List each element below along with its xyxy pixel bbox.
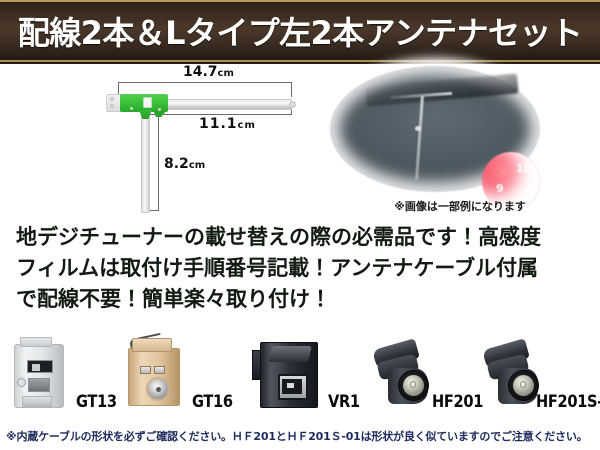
description-line-2: フィルムは取付け手順番号記載！アンテナケーブル付属	[16, 253, 588, 284]
photo-antenna-vertical	[415, 96, 424, 180]
connector-vr1: VR1	[252, 332, 360, 418]
gt13-window-lower	[28, 378, 50, 392]
connector-gt13-label: GT13	[76, 392, 117, 412]
antenna-film-end-cap	[289, 101, 296, 108]
connector-row: GT13 GT16 VR1	[0, 332, 600, 418]
connector-gt16-label: GT16	[192, 392, 233, 412]
gt13-side-circle	[17, 378, 26, 387]
product-image-page: 配線2本＆Lタイプ左2本アンテナセット 14.7cm 11.1cm 8.2cm	[0, 0, 600, 450]
dim-total-unit: cm	[218, 68, 234, 79]
antenna-tab-hole-1	[110, 97, 114, 101]
dim-label-inner: 11.1cm	[199, 116, 256, 132]
connector-hf201-label: HF201	[432, 392, 483, 412]
vr1-top-arm	[268, 346, 312, 362]
photo-glass-edge	[365, 73, 518, 106]
dim-label-height: 8.2cm	[164, 156, 205, 172]
dim-inner-line	[160, 114, 292, 115]
gt16-contact-2	[154, 366, 165, 374]
antenna-film-vertical	[141, 110, 150, 213]
gt16-contact-1	[140, 366, 151, 374]
description-text: 地デジチューナーの載せ替えの際の必需品です！高感度 フィルムは取付け手順番号記載…	[16, 222, 588, 315]
description-line-1: 地デジチューナーの載せ替えの際の必需品です！高感度	[16, 222, 588, 253]
gt13-base	[22, 396, 52, 407]
connector-vr1-label: VR1	[328, 392, 360, 412]
gt16-coax-face	[146, 377, 170, 401]
antenna-diagram: 14.7cm 11.1cm 8.2cm	[0, 64, 300, 214]
photo-caption: ※画像は一部例になります	[330, 198, 590, 214]
description-line-3: で配線不要！簡単楽々取り付け！	[16, 284, 588, 315]
antenna-chip	[143, 97, 152, 108]
installed-photo: 10 9	[330, 66, 540, 196]
antenna-marker-dot-2	[158, 108, 161, 111]
hf201s01-contact-face	[513, 375, 534, 396]
connector-gt13: GT13	[14, 332, 122, 418]
dim-total-value: 14.7	[183, 64, 218, 80]
banner-title: 配線2本＆Lタイプ左2本アンテナセット	[18, 8, 582, 54]
photo-windshield: 10 9	[330, 66, 540, 192]
connector-hf201s01-label: HF201S-01	[536, 392, 600, 412]
dim-inner-value: 11.1	[199, 116, 238, 132]
hf201-contact-face	[403, 375, 424, 396]
connector-hf201s01: HF201S-01	[484, 332, 600, 418]
dim-height-line	[158, 114, 159, 211]
hf201-housing	[374, 342, 430, 406]
vr1-pin-window	[282, 379, 302, 394]
antenna-tab-hole-2	[110, 104, 114, 108]
gt13-top-clip	[20, 337, 52, 347]
hf201s01-housing	[484, 342, 540, 406]
header-banner: 配線2本＆Lタイプ左2本アンテナセット	[0, 0, 600, 62]
dim-height-unit: cm	[189, 160, 205, 171]
gt16-top-clip	[132, 338, 172, 352]
dim-total-tick-right	[291, 82, 292, 97]
dim-height-value: 8.2	[164, 156, 189, 172]
gt13-window-upper	[27, 360, 53, 373]
dim-label-total: 14.7cm	[183, 64, 234, 80]
photo-antenna-node	[415, 126, 421, 131]
connector-gt16: GT16	[128, 332, 236, 418]
dim-inner-unit: cm	[238, 120, 256, 131]
antenna-marker-dot-1	[130, 107, 133, 110]
dim-total-line	[118, 82, 292, 83]
connector-hf201: HF201	[374, 332, 482, 418]
footer-note: ※内蔵ケーブルの形状を必ずご確認ください。ＨＦ201とＨＦ201Ｓ-01は形状が…	[6, 428, 596, 444]
